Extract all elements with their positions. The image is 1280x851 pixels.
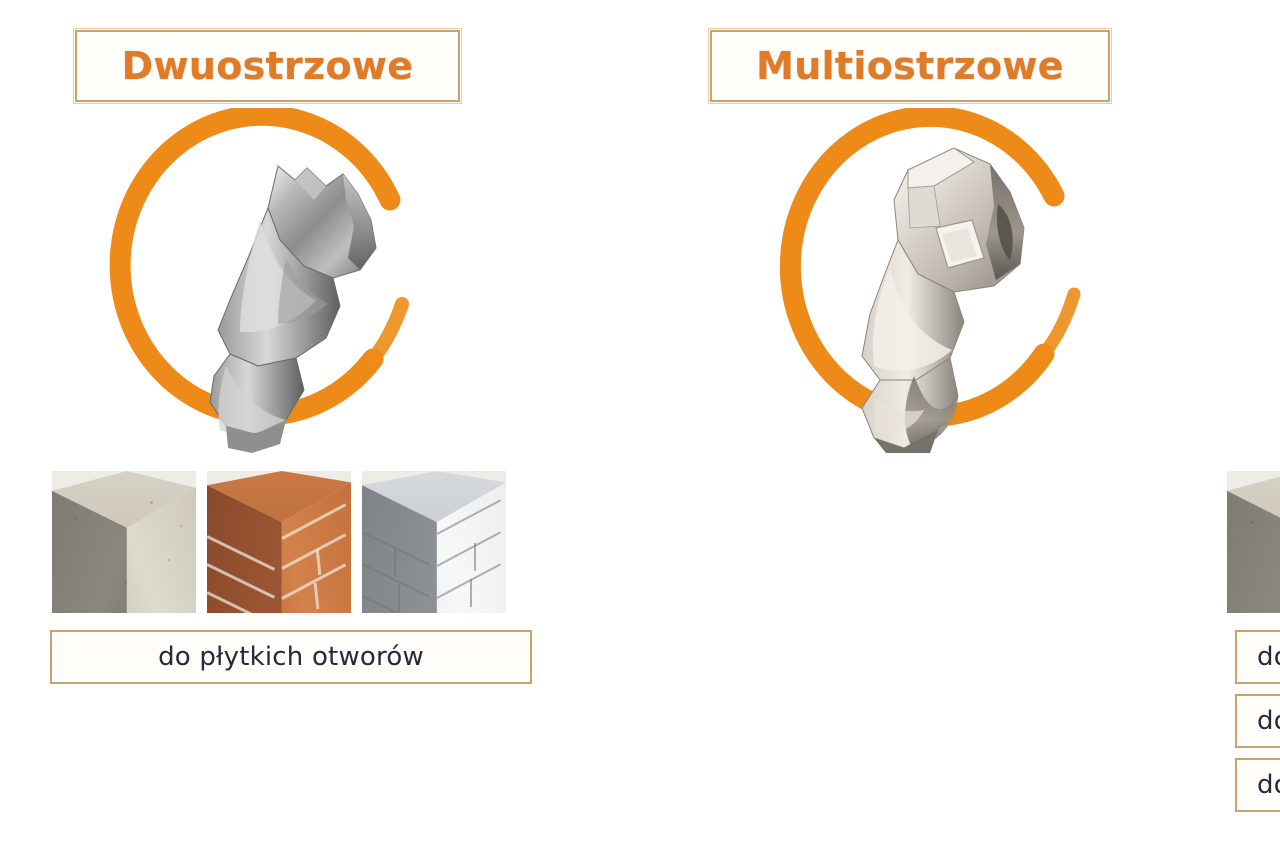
- page-title-left: Dwuostrzowe: [122, 44, 414, 88]
- caption-box: do głębokich odwiertów: [1235, 694, 1280, 748]
- two-cutter-drill-bit-icon: [90, 108, 430, 453]
- caption-box: do płytkich otworów: [50, 630, 532, 684]
- caption-text: do płytkich otworów: [158, 642, 424, 672]
- drill-bit-illustration-left: [90, 108, 430, 453]
- multi-cutter-drill-bit-icon: [758, 108, 1098, 453]
- caption-text: do profesjonalnych zastosowań: [1257, 642, 1280, 672]
- material-tile-red-brick: [207, 471, 351, 613]
- title-box-multiostrzowe: Multiostrzowe: [710, 30, 1110, 102]
- captions-right: do profesjonalnych zastosowań do głęboki…: [1235, 630, 1280, 822]
- drill-bit-illustration-right: [758, 108, 1098, 453]
- column-dwuostrzowe: Dwuostrzowe: [0, 0, 600, 851]
- page-title-right: Multiostrzowe: [756, 44, 1064, 88]
- drill-bit-comparison-infographic: Dwuostrzowe: [0, 0, 1280, 851]
- material-tile-aerated-block: [362, 471, 506, 613]
- caption-box: do betonu zbrojonego: [1235, 758, 1280, 812]
- caption-text: do głębokich odwiertów: [1257, 706, 1280, 736]
- column-multiostrzowe: Multiostrzowe: [600, 0, 1280, 851]
- material-tiles-left: [52, 471, 506, 613]
- captions-left: do płytkich otworów: [50, 630, 532, 694]
- material-tile-concrete: [1227, 471, 1280, 613]
- material-tile-concrete: [52, 471, 196, 613]
- title-box-dwuostrzowe: Dwuostrzowe: [75, 30, 460, 102]
- caption-text: do betonu zbrojonego: [1257, 770, 1280, 800]
- caption-box: do profesjonalnych zastosowań: [1235, 630, 1280, 684]
- material-tiles-right: [1227, 471, 1280, 613]
